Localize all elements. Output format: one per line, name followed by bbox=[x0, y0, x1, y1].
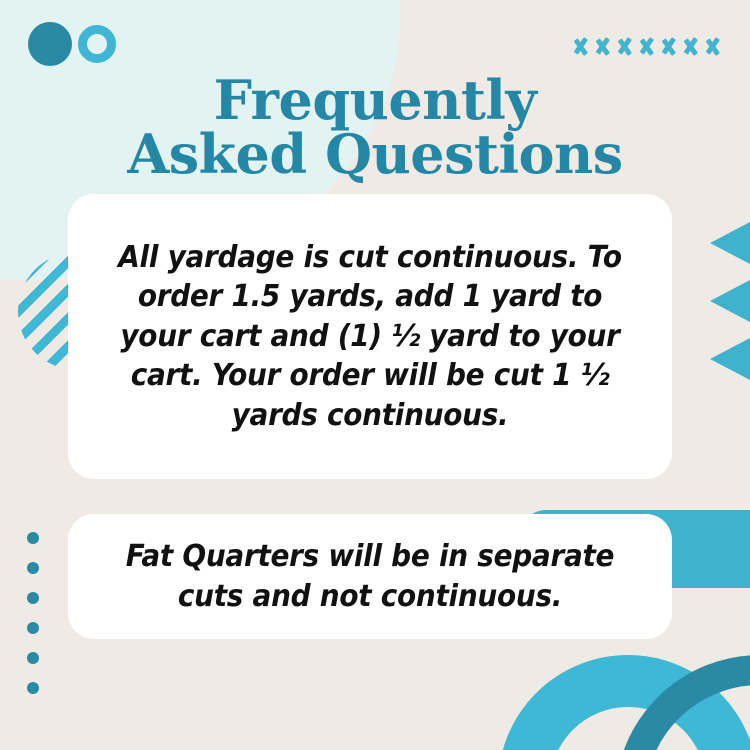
faq-graphic: Frequently Asked Questions All yardage i… bbox=[0, 0, 750, 750]
filled-circle-icon bbox=[28, 22, 72, 66]
triangle-left-icon-column bbox=[710, 222, 750, 396]
dot-icon-column bbox=[27, 532, 39, 712]
page-title-line-2: Asked Questions bbox=[0, 128, 750, 181]
ring-circle-icon bbox=[78, 25, 116, 63]
triangle-left-icon bbox=[710, 280, 750, 322]
dot-icon bbox=[27, 622, 39, 634]
triangle-left-icon bbox=[710, 222, 750, 264]
chevron-left-icon-row bbox=[585, 30, 734, 60]
triangle-left-icon bbox=[710, 338, 750, 380]
faq-card: Fat Quarters will be in separate cuts an… bbox=[68, 514, 672, 639]
faq-card-text: All yardage is cut continuous. To order … bbox=[106, 238, 634, 436]
chevron-left-icon bbox=[717, 30, 734, 60]
dot-icon bbox=[27, 592, 39, 604]
dot-icon bbox=[27, 562, 39, 574]
dot-icon bbox=[27, 532, 39, 544]
page-title: Frequently Asked Questions bbox=[0, 74, 750, 181]
faq-card: All yardage is cut continuous. To order … bbox=[68, 194, 672, 479]
faq-card-text: Fat Quarters will be in separate cuts an… bbox=[108, 537, 633, 616]
dot-icon bbox=[27, 682, 39, 694]
dot-icon bbox=[27, 652, 39, 664]
